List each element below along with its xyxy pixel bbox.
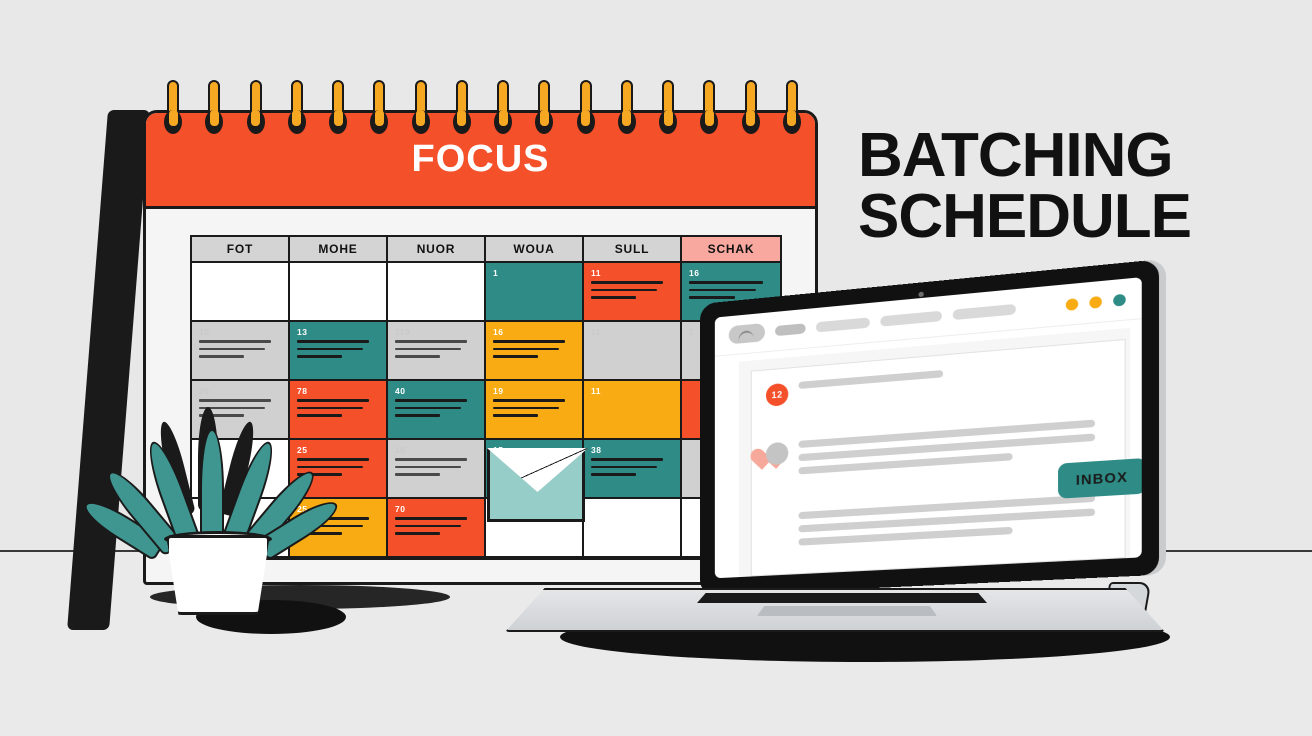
event-lines	[395, 340, 477, 358]
day-number: 110	[395, 327, 477, 337]
toolbar-pill[interactable]	[953, 304, 1016, 320]
spiral-binding	[158, 80, 818, 142]
spiral-ring	[205, 80, 223, 142]
spiral-ring	[659, 80, 677, 142]
poster-title: BATCHING SCHEDULE	[858, 126, 1258, 248]
toolbar-pill[interactable]	[816, 317, 870, 332]
calendar-day-cell[interactable]: 110	[388, 322, 486, 381]
event-line	[395, 458, 467, 461]
calendar-column-header-sull: SULL	[584, 237, 682, 261]
event-line	[395, 466, 461, 469]
spiral-ring	[370, 80, 388, 142]
spiral-ring	[494, 80, 512, 142]
event-line	[199, 348, 265, 351]
event-line	[395, 407, 461, 410]
event-line	[395, 517, 467, 520]
event-line	[395, 399, 467, 402]
list-item-lines	[798, 494, 1108, 552]
envelope-flap	[487, 448, 588, 492]
event-line	[689, 296, 735, 299]
spiral-ring	[700, 80, 718, 142]
event-line	[297, 458, 369, 461]
event-lines	[395, 517, 477, 535]
day-number: 25	[297, 445, 379, 455]
event-line	[297, 407, 363, 410]
event-line	[297, 348, 363, 351]
event-line	[395, 473, 440, 476]
spiral-ring	[783, 80, 801, 142]
event-lines	[395, 458, 477, 476]
event-lines	[199, 340, 281, 358]
back-arrow-icon[interactable]	[729, 323, 765, 344]
envelope-icon	[487, 448, 585, 522]
spiral-ring	[329, 80, 347, 142]
event-line	[395, 340, 467, 343]
toolbar-dot-icon[interactable]	[1113, 293, 1126, 306]
event-line	[297, 414, 342, 417]
inbox-badge[interactable]: INBOX	[1058, 458, 1142, 499]
laptop-lid: 12	[700, 259, 1159, 596]
calendar-column-header-woua: WOUA	[486, 237, 584, 261]
spiral-ring	[412, 80, 430, 142]
day-number: 13	[297, 327, 379, 337]
spiral-ring	[577, 80, 595, 142]
event-line	[199, 340, 271, 343]
keyboard-notch	[697, 593, 987, 603]
spiral-ring	[453, 80, 471, 142]
day-number: 1	[493, 268, 575, 278]
event-line	[395, 355, 440, 358]
toolbar-dot-icon[interactable]	[1066, 298, 1078, 311]
event-line	[297, 399, 369, 402]
illustration-canvas: FOCUS FOTMOHENUORWOUASULLSCHAK 111161013…	[0, 0, 1312, 736]
unread-count-badge: 12	[766, 383, 788, 407]
toolbar-dot-icon[interactable]	[1089, 295, 1101, 308]
webcam-icon	[918, 292, 923, 298]
event-line	[395, 348, 461, 351]
plant-pot	[166, 535, 270, 615]
event-lines	[395, 399, 477, 417]
event-line	[199, 355, 244, 358]
succulent-plant-icon	[140, 415, 300, 615]
toolbar-pill[interactable]	[880, 311, 942, 327]
calendar-day-cell[interactable]: 40	[388, 381, 486, 440]
day-number: 16	[395, 445, 477, 455]
spiral-ring	[164, 80, 182, 142]
spiral-ring	[618, 80, 636, 142]
calendar-column-header-schak: SCHAK	[682, 237, 780, 261]
list-item[interactable]	[766, 494, 1109, 554]
event-line	[395, 532, 440, 535]
laptop: 12	[505, 300, 1165, 640]
event-line	[199, 399, 271, 402]
list-item[interactable]	[766, 564, 1109, 578]
event-line	[297, 340, 369, 343]
event-line	[591, 281, 663, 284]
event-line	[297, 355, 342, 358]
laptop-screen: 12	[715, 277, 1142, 578]
browser-page: 12	[739, 328, 1131, 577]
calendar-column-headers: FOTMOHENUORWOUASULLSCHAK	[190, 235, 782, 263]
laptop-keyboard-deck	[505, 588, 1165, 632]
calendar-column-header-mohe: MOHE	[290, 237, 388, 261]
list-item-lines	[798, 564, 1108, 578]
event-line	[689, 289, 756, 292]
spiral-ring	[535, 80, 553, 142]
event-lines	[297, 340, 379, 358]
calendar-day-cell[interactable]: 16	[388, 440, 486, 499]
title-line-2: SCHEDULE	[858, 187, 1258, 248]
event-line	[395, 525, 461, 528]
title-line-1: BATCHING	[858, 126, 1258, 187]
text-line	[798, 566, 1069, 578]
event-line	[591, 296, 636, 299]
calendar-column-header-nuor: NUOR	[388, 237, 486, 261]
laptop-base	[505, 588, 1165, 642]
day-number: 10	[199, 327, 281, 337]
event-line	[395, 414, 440, 417]
trackpad	[757, 606, 937, 616]
event-lines	[297, 399, 379, 417]
day-number: 20	[199, 386, 281, 396]
day-number: 16	[689, 268, 773, 278]
day-number: 70	[395, 504, 477, 514]
calendar-day-cell[interactable]: 78	[290, 381, 388, 440]
text-line	[798, 370, 943, 389]
spiral-ring	[288, 80, 306, 142]
day-number: 40	[395, 386, 477, 396]
inbox-card: 12	[751, 339, 1126, 577]
list-item-lines	[798, 356, 1108, 395]
calendar-day-cell[interactable]	[388, 263, 486, 322]
event-line	[591, 289, 657, 292]
avatar	[766, 442, 788, 466]
calendar-day-cell[interactable]: 10	[192, 322, 290, 381]
event-line	[297, 466, 363, 469]
day-number: 78	[297, 386, 379, 396]
list-item[interactable]: 12	[766, 356, 1109, 406]
event-lines	[689, 281, 773, 299]
calendar-title: FOCUS	[412, 138, 550, 181]
event-line	[689, 281, 763, 284]
day-number: 11	[591, 268, 673, 278]
calendar-day-cell[interactable]: 13	[290, 322, 388, 381]
toolbar-pill[interactable]	[775, 323, 806, 336]
calendar-day-cell[interactable]: 70	[388, 499, 486, 558]
event-lines	[591, 281, 673, 299]
spiral-ring	[247, 80, 265, 142]
calendar-day-cell[interactable]	[192, 263, 290, 322]
calendar-day-cell[interactable]	[290, 263, 388, 322]
calendar-column-header-fot: FOT	[192, 237, 290, 261]
spiral-ring	[742, 80, 760, 142]
